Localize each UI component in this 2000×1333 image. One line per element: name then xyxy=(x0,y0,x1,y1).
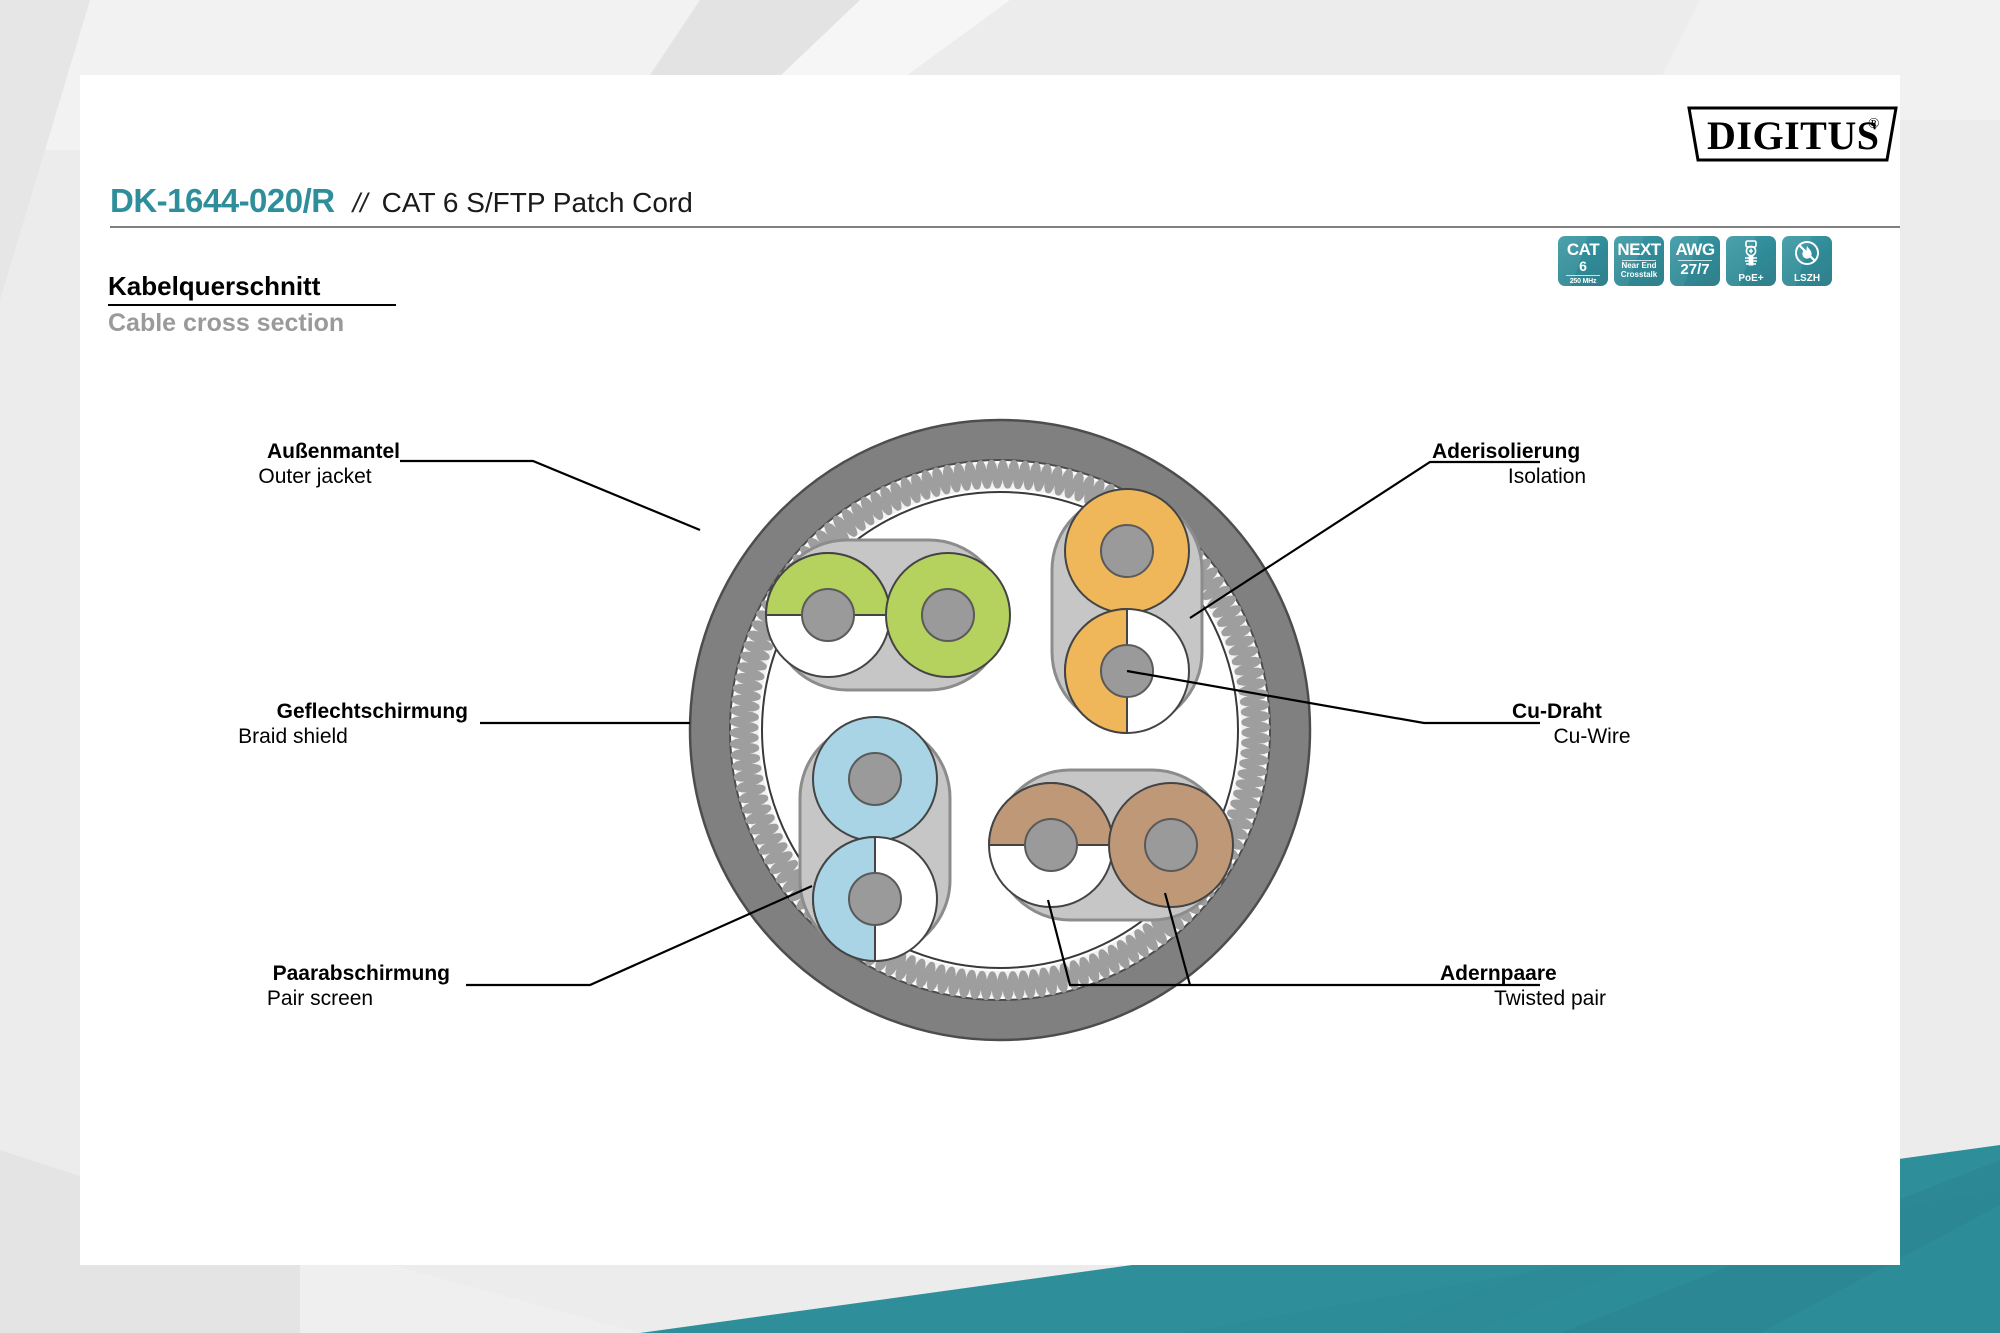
section-heading-de: Kabelquerschnitt xyxy=(108,272,396,302)
badge-cat6[interactable]: CAT 6 250 MHz xyxy=(1558,236,1608,286)
callout-braid-shield-en: Braid shield xyxy=(118,725,468,750)
logo-wordmark: DIGITUS xyxy=(1707,113,1879,158)
callout-twisted-pair-en: Twisted pair xyxy=(1440,987,1660,1012)
callout-twisted-pair: Adernpaare Twisted pair xyxy=(1440,962,1660,1012)
title-divider xyxy=(110,226,1900,228)
title-separator: // xyxy=(353,188,368,219)
section-heading-en: Cable cross section xyxy=(108,309,396,338)
badge-cat6-rule xyxy=(1566,275,1600,276)
callout-pair-screen-de: Paarabschirmung xyxy=(190,962,450,987)
callout-isolation-de: Aderisolierung xyxy=(1432,440,1662,465)
callout-outer-jacket-en: Outer jacket xyxy=(230,465,400,490)
badge-cat6-foot: 250 MHz xyxy=(1570,278,1597,285)
badge-poe[interactable]: PoE+ xyxy=(1726,236,1776,286)
badge-awg-mid: 27/7 xyxy=(1680,262,1709,277)
badge-next-top: NEXT xyxy=(1617,241,1660,258)
badge-awg-top: AWG xyxy=(1675,241,1714,258)
callout-braid-shield: Geflechtschirmung Braid shield xyxy=(118,700,468,750)
badge-cat6-top: CAT xyxy=(1567,241,1599,258)
digitus-logo: DIGITUS ® xyxy=(1685,104,1900,164)
badge-next-sub2: Crosstalk xyxy=(1621,271,1657,279)
page-title: DK-1644-020/R // CAT 6 S/FTP Patch Cord xyxy=(110,182,693,220)
badge-poe-foot: PoE+ xyxy=(1726,274,1776,284)
product-sku: DK-1644-020/R xyxy=(110,182,335,220)
badge-next-sub1: Near End xyxy=(1621,262,1656,270)
callout-outer-jacket: Außenmantel Outer jacket xyxy=(230,440,400,490)
callout-cu-wire: Cu-Draht Cu-Wire xyxy=(1512,700,1672,750)
rj45-plug-icon xyxy=(1740,240,1762,275)
no-fire-icon xyxy=(1794,240,1820,271)
callout-cu-wire-de: Cu-Draht xyxy=(1512,700,1672,725)
section-heading: Kabelquerschnitt Cable cross section xyxy=(108,272,396,338)
callout-pair-screen-en: Pair screen xyxy=(190,987,450,1012)
badge-awg[interactable]: AWG 27/7 xyxy=(1670,236,1720,286)
badge-lszh[interactable]: LSZH xyxy=(1782,236,1832,286)
feature-badges: CAT 6 250 MHz NEXT Near End Crosstalk AW… xyxy=(1558,236,1832,286)
callout-cu-wire-en: Cu-Wire xyxy=(1512,725,1672,750)
badge-lszh-foot: LSZH xyxy=(1782,274,1832,284)
callout-pair-screen: Paarabschirmung Pair screen xyxy=(190,962,450,1012)
badge-cat6-mid: 6 xyxy=(1579,259,1587,273)
product-name: CAT 6 S/FTP Patch Cord xyxy=(382,187,693,219)
section-heading-rule xyxy=(108,304,396,306)
callout-twisted-pair-de: Adernpaare xyxy=(1440,962,1660,987)
callout-isolation-en: Isolation xyxy=(1432,465,1662,490)
callout-outer-jacket-de: Außenmantel xyxy=(230,440,400,465)
callout-isolation: Aderisolierung Isolation xyxy=(1432,440,1662,490)
registered-trademark-icon: ® xyxy=(1868,116,1879,132)
badge-next[interactable]: NEXT Near End Crosstalk xyxy=(1614,236,1664,286)
callout-braid-shield-de: Geflechtschirmung xyxy=(118,700,468,725)
